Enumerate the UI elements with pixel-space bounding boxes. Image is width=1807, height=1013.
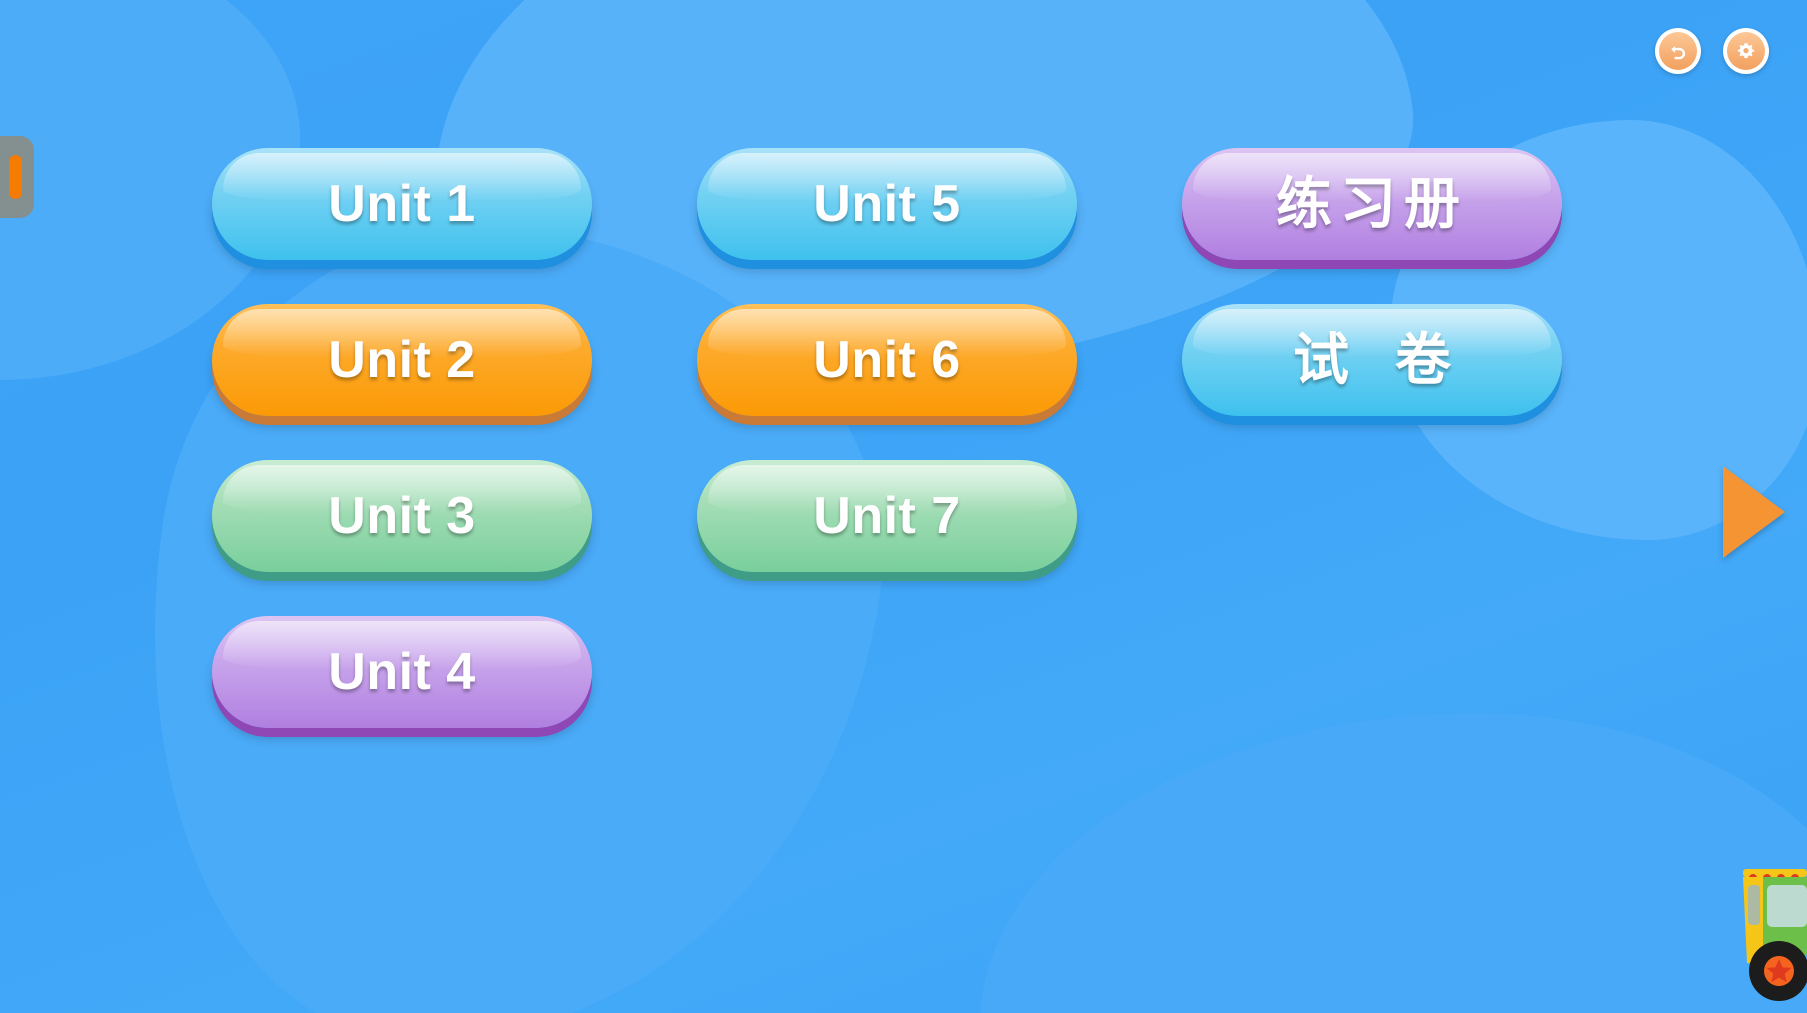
menu-button-unit-1[interactable]: Unit 1 [212,148,592,260]
settings-button[interactable] [1723,28,1769,74]
menu-button-exam-paper[interactable]: 试卷 [1182,304,1562,416]
menu-button-unit-4[interactable]: Unit 4 [212,616,592,728]
menu-button-unit-3[interactable]: Unit 3 [212,460,592,572]
menu-cell: Unit 4 [212,616,592,728]
undo-arrow-icon [1666,39,1690,63]
menu-cell: Unit 1 [212,148,592,260]
menu-button-label: Unit 4 [328,646,475,698]
drawer-grip-icon [9,155,22,199]
top-controls [1655,28,1769,74]
gear-icon [1734,39,1758,63]
menu-button-label: Unit 5 [813,178,960,230]
back-button[interactable] [1655,28,1701,74]
menu-button-label: Unit 1 [328,178,475,230]
menu-cell: Unit 5 [697,148,1077,260]
menu-cell: 练习册 [1182,148,1562,260]
truck-illustration [1717,863,1807,1013]
menu-cell: Unit 3 [212,460,592,572]
menu-cell: Unit 7 [697,460,1077,572]
menu-button-unit-2[interactable]: Unit 2 [212,304,592,416]
next-page-arrow[interactable] [1723,466,1785,558]
menu-button-unit-5[interactable]: Unit 5 [697,148,1077,260]
menu-button-label: Unit 3 [328,490,475,542]
unit-menu-grid: Unit 1 Unit 5 练习册 Unit 2 Unit 6 [212,148,1562,728]
app-screen: Unit 1 Unit 5 练习册 Unit 2 Unit 6 [0,0,1807,1013]
menu-button-unit-7[interactable]: Unit 7 [697,460,1077,572]
menu-button-label: 练习册 [1276,176,1468,232]
menu-button-label: Unit 6 [813,334,960,386]
menu-button-workbook[interactable]: 练习册 [1182,148,1562,260]
menu-cell: 试卷 [1182,304,1562,416]
drawer-toggle[interactable] [0,136,34,218]
menu-button-label: 试卷 [1247,332,1497,388]
menu-cell: Unit 2 [212,304,592,416]
menu-button-label: Unit 7 [813,490,960,542]
background-blob-bottom [980,713,1807,1013]
menu-cell: Unit 6 [697,304,1077,416]
menu-button-unit-6[interactable]: Unit 6 [697,304,1077,416]
menu-button-label: Unit 2 [328,334,475,386]
